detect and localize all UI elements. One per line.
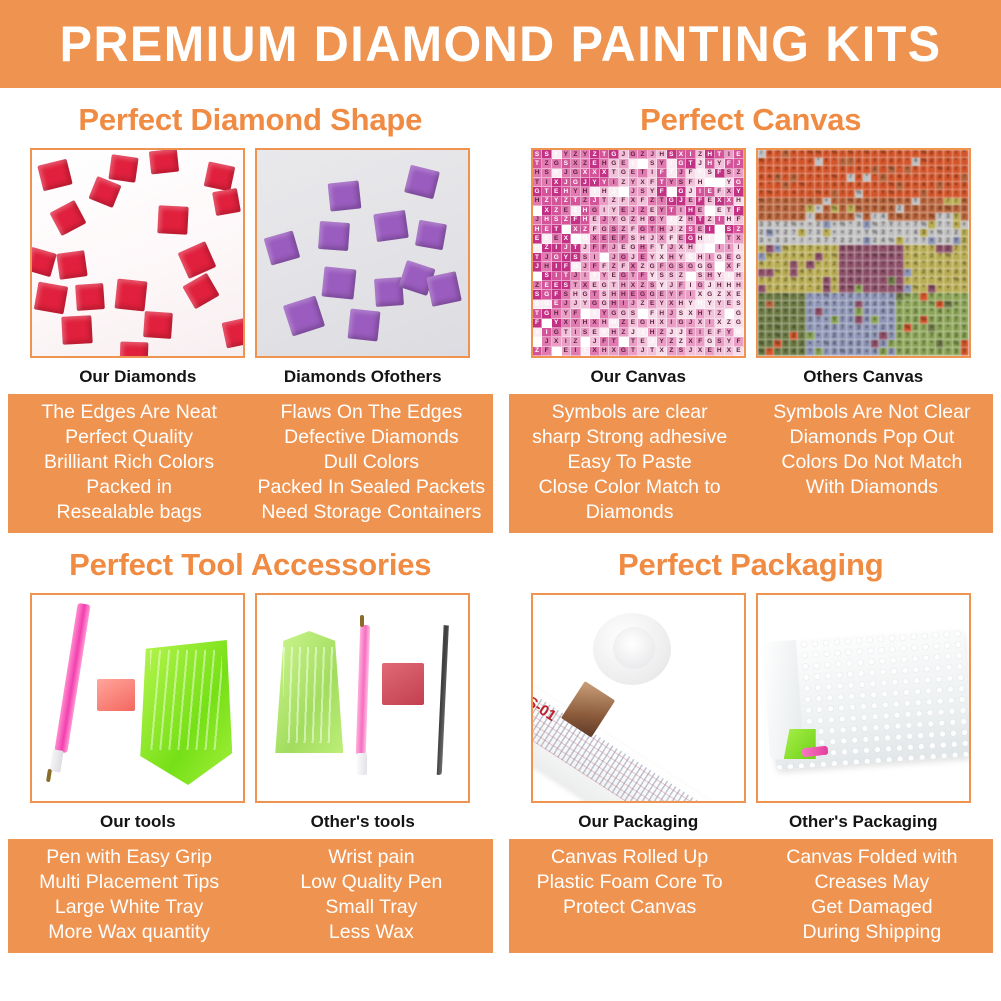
feature-item: Less Wax [253, 920, 489, 945]
feature-item: Packed in [11, 475, 247, 500]
feature-item: Canvas Folded with [754, 845, 990, 870]
feature-list-our-canvas: Symbols are clear sharp Strong adhesive … [509, 400, 751, 525]
compare-cell-other-packaging: Other's Packaging [756, 593, 971, 839]
pink-pen-icon [55, 603, 91, 753]
section-tool-accessories: Perfect Tool Accessories Our tools [0, 533, 501, 953]
feature-item: Colors Do Not Match [754, 450, 990, 475]
our-diamonds-photo [30, 148, 245, 358]
pink-wax-square-icon [97, 679, 135, 711]
other-tools-photo [255, 593, 470, 803]
feature-item: Large White Tray [11, 895, 247, 920]
feature-list-other-canvas: Symbols Are Not Clear Diamonds Pop Out C… [751, 400, 993, 525]
other-canvas-photo: /3?4Y+%%7%/%?%/%?4/?%2/+/*%?Y+?*2*Y*/?2/… [756, 148, 971, 358]
feature-item: With Diamonds [754, 475, 990, 500]
feature-list-our-packaging: Canvas Rolled Up Plastic Foam Core To Pr… [509, 845, 751, 945]
infographic-page: PREMIUM DIAMOND PAINTING KITS Perfect Di… [0, 0, 1001, 1001]
feature-item: Symbols Are Not Clear [754, 400, 990, 425]
section-canvas: Perfect Canvas SSYYZYZTGJGZJHSXIZHTIETZG… [501, 88, 1001, 533]
feature-box-tool-accessories: Pen with Easy Grip Multi Placement Tips … [8, 839, 493, 953]
section-title-tool-accessories: Perfect Tool Accessories [0, 533, 501, 593]
compare-cell-our-packaging: S-01 Our Packaging [531, 593, 746, 839]
header-banner: PREMIUM DIAMOND PAINTING KITS [0, 0, 1001, 88]
section-title-canvas: Perfect Canvas [501, 88, 1001, 148]
caption-other-tools: Other's tools [255, 803, 470, 839]
feature-item: The Edges Are Neat [11, 400, 247, 425]
red-wax-square-icon [382, 663, 424, 705]
pink-pen-icon [356, 625, 371, 755]
feature-item: Wrist pain [253, 845, 489, 870]
feature-item: Diamonds [512, 500, 748, 525]
compare-cell-other-canvas: /3?4Y+%%7%/%?%/%?4/?%2/+/*%?Y+?*2*Y*/?2/… [756, 148, 971, 394]
our-packaging-photo: S-01 [531, 593, 746, 803]
feature-item: Flaws On The Edges [253, 400, 489, 425]
section-packaging: Perfect Packaging S-01 Our Packaging [501, 533, 1001, 953]
feature-item: sharp Strong adhesive [512, 425, 748, 450]
feature-item: Diamonds Pop Out [754, 425, 990, 450]
feature-box-diamond-shape: The Edges Are Neat Perfect Quality Brill… [8, 394, 493, 533]
feature-box-canvas: Symbols are clear sharp Strong adhesive … [509, 394, 994, 533]
caption-our-tools: Our tools [30, 803, 245, 839]
our-tools-photo [30, 593, 245, 803]
feature-box-packaging: Canvas Rolled Up Plastic Foam Core To Pr… [509, 839, 994, 953]
feature-item: Get Damaged [754, 895, 990, 920]
section-row-1: Perfect Diamond Shape [0, 88, 1001, 533]
caption-our-packaging: Our Packaging [531, 803, 746, 839]
page-title: PREMIUM DIAMOND PAINTING KITS [60, 15, 942, 73]
feature-list-other-packaging: Canvas Folded with Creases May Get Damag… [751, 845, 993, 945]
canvas-symbol-grid: SSYYZYZTGJGZJHSXIZHTIETZGSXZEHGEIYSYIGTJ… [533, 150, 744, 356]
feature-item: Low Quality Pen [253, 870, 489, 895]
caption-our-canvas: Our Canvas [531, 358, 746, 394]
other-packaging-photo [756, 593, 971, 803]
feature-item: Symbols are clear [512, 400, 748, 425]
feature-item: Easy To Paste [512, 450, 748, 475]
feature-list-other-tools: Wrist pain Low Quality Pen Small Tray Le… [250, 845, 492, 945]
feature-item: Small Tray [253, 895, 489, 920]
caption-other-diamonds: Diamonds Ofothers [255, 358, 470, 394]
feature-item: Pen with Easy Grip [11, 845, 247, 870]
compare-cell-other-tools: Other's tools [255, 593, 470, 839]
compare-cell-our-canvas: SSYYZYZTGJGZJHSXIZHTIETZGSXZEHGEIYSYIGTJ… [531, 148, 746, 394]
section-title-diamond-shape: Perfect Diamond Shape [0, 88, 501, 148]
caption-our-diamonds: Our Diamonds [30, 358, 245, 394]
feature-item: Perfect Quality [11, 425, 247, 450]
feature-item: Protect Canvas [512, 895, 748, 920]
feature-item: More Wax quantity [11, 920, 247, 945]
feature-list-other-diamonds: Flaws On The Edges Defective Diamonds Du… [250, 400, 492, 525]
feature-item: Canvas Rolled Up [512, 845, 748, 870]
compare-cell-our-tools: Our tools [30, 593, 245, 839]
feature-item: Multi Placement Tips [11, 870, 247, 895]
other-diamonds-photo [255, 148, 470, 358]
compare-cell-our-diamonds: Our Diamonds [30, 148, 245, 394]
feature-item: Brilliant Rich Colors [11, 450, 247, 475]
feature-item: Close Color Match to [512, 475, 748, 500]
feature-item: Creases May [754, 870, 990, 895]
section-row-2: Perfect Tool Accessories Our tools [0, 533, 1001, 953]
feature-item: Resealable bags [11, 500, 247, 525]
section-title-packaging: Perfect Packaging [501, 533, 1001, 593]
feature-item: Defective Diamonds [253, 425, 489, 450]
our-canvas-photo: SSYYZYZTGJGZJHSXIZHTIETZGSXZEHGEIYSYIGTJ… [531, 148, 746, 358]
feature-item: During Shipping [754, 920, 990, 945]
feature-item: Plastic Foam Core To [512, 870, 748, 895]
feature-list-our-diamonds: The Edges Are Neat Perfect Quality Brill… [8, 400, 250, 525]
feature-item: Need Storage Containers [253, 500, 489, 525]
section-diamond-shape: Perfect Diamond Shape [0, 88, 501, 533]
tweezers-icon [430, 625, 452, 775]
feature-list-our-tools: Pen with Easy Grip Multi Placement Tips … [8, 845, 250, 945]
feature-item: Packed In Sealed Packets [253, 475, 489, 500]
caption-other-packaging: Other's Packaging [756, 803, 971, 839]
compare-cell-other-diamonds: Diamonds Ofothers [255, 148, 470, 394]
caption-other-canvas: Others Canvas [756, 358, 971, 394]
canvas-symbol-grid-muddy: /3?4Y+%%7%/%?%/%?4/?%2/+/*%?Y+?*2*Y*/?2/… [758, 150, 969, 356]
feature-item: Dull Colors [253, 450, 489, 475]
